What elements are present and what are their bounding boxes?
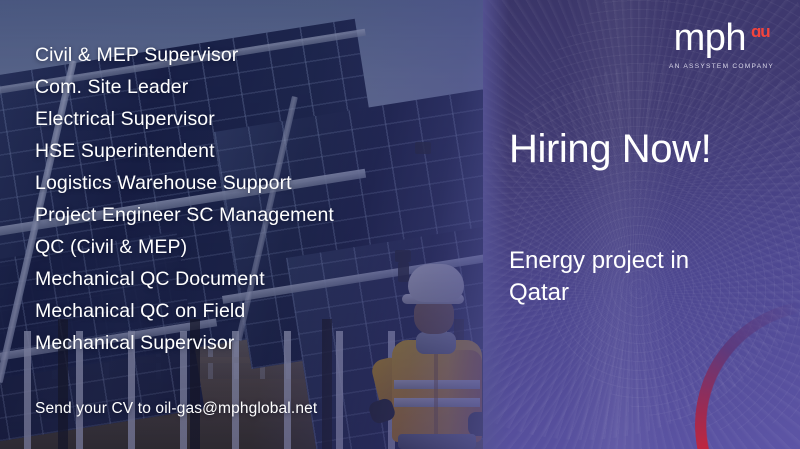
- assystem-mark-icon: ɑu: [751, 23, 769, 40]
- panel-light-sheen: [565, 0, 673, 449]
- logo-row: mph ɑu: [669, 20, 774, 56]
- job-list-item: QC (Civil & MEP): [35, 231, 465, 263]
- job-list-item: Civil & MEP Supervisor: [35, 39, 465, 71]
- job-list-item: Mechanical QC on Field: [35, 295, 465, 327]
- headline-hiring-now: Hiring Now!: [509, 128, 711, 170]
- job-title-list: Civil & MEP Supervisor Com. Site Leader …: [35, 39, 465, 359]
- job-list-item: Mechanical Supervisor: [35, 327, 465, 359]
- job-list-item: Mechanical QC Document: [35, 263, 465, 295]
- hiring-banner: Civil & MEP Supervisor Com. Site Leader …: [0, 0, 800, 449]
- subtitle-project: Energy project in Qatar: [509, 245, 739, 310]
- job-list-item: Project Engineer SC Management: [35, 199, 465, 231]
- logo-tagline: AN ASSYSTEM COMPANY: [669, 63, 774, 70]
- red-ring-graphic: [695, 300, 800, 449]
- job-list-item: Com. Site Leader: [35, 71, 465, 103]
- purple-info-panel: mph ɑu AN ASSYSTEM COMPANY Hiring Now! E…: [483, 0, 800, 449]
- job-list-item: Electrical Supervisor: [35, 103, 465, 135]
- logo-wordmark: mph: [674, 20, 746, 56]
- mph-logo: mph ɑu AN ASSYSTEM COMPANY: [669, 20, 774, 70]
- job-list-item: HSE Superintendent: [35, 135, 465, 167]
- panel-left-edge: [483, 0, 509, 449]
- job-list-item: Logistics Warehouse Support: [35, 167, 465, 199]
- send-cv-text: Send your CV to oil-gas@mphglobal.net: [35, 400, 317, 418]
